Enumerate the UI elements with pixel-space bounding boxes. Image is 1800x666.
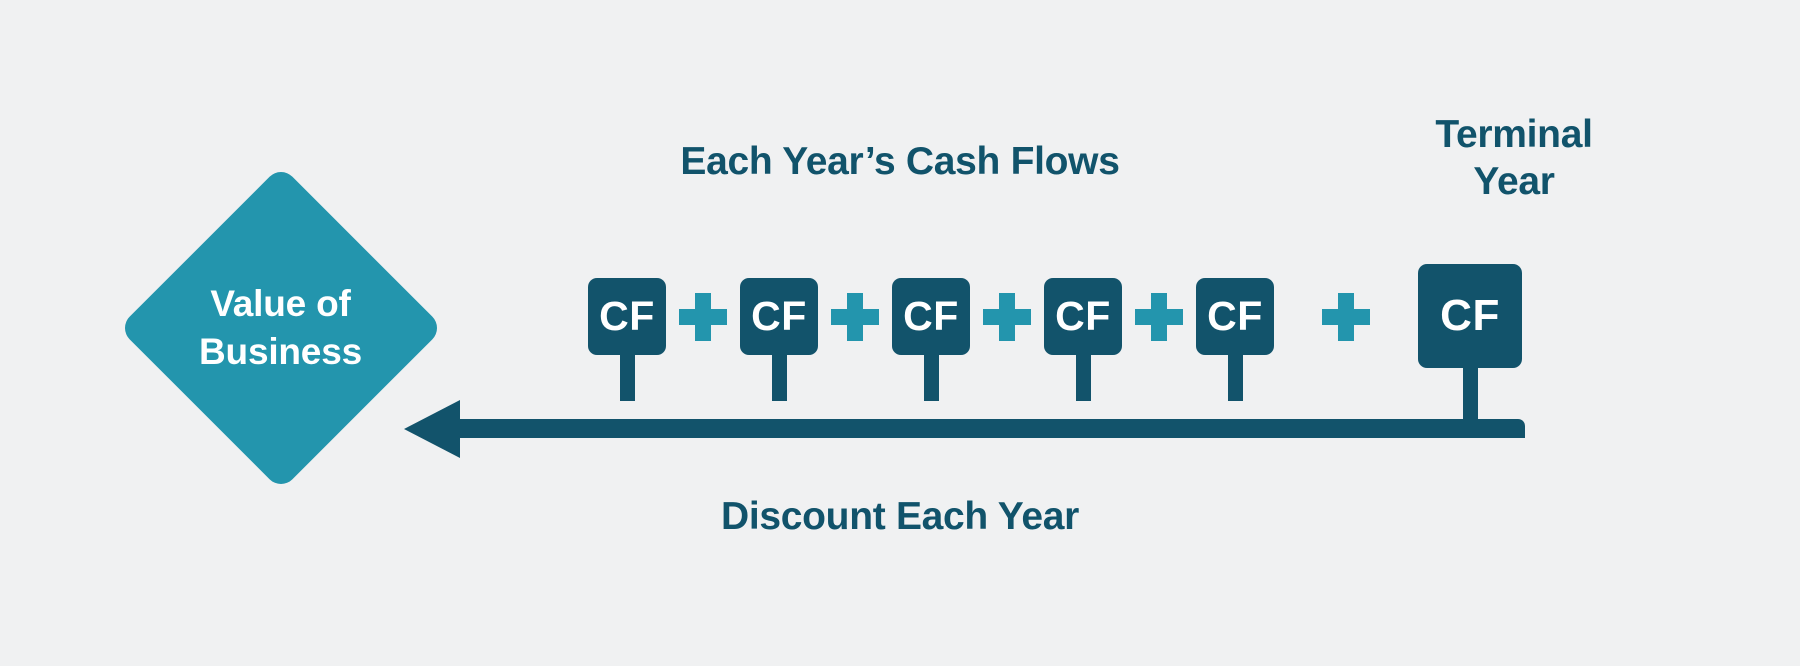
dcf-diagram-canvas: Value of Business CF CF CF CF CF [0, 0, 1800, 666]
value-of-business-diamond: Value of Business [118, 165, 443, 490]
diamond-label: Value of Business [118, 165, 443, 490]
plus-icon-2 [831, 293, 879, 341]
plus-icon-4 [1135, 293, 1183, 341]
caption-discount-each-year: Discount Each Year [640, 495, 1160, 539]
cash-flow-stem-terminal [1463, 368, 1478, 426]
cash-flow-stem-2 [772, 355, 787, 401]
caption-terminal-year-line1: Terminal [1400, 112, 1628, 159]
cash-flow-stem-4 [1076, 355, 1091, 401]
cash-flow-stem-5 [1228, 355, 1243, 401]
cash-flow-row: CF CF CF CF CF CF [588, 264, 1522, 439]
cash-flow-box-label-4: CF [1044, 278, 1122, 355]
plus-icon-3 [983, 293, 1031, 341]
cash-flow-stem-1 [620, 355, 635, 401]
cash-flow-node-5[interactable]: CF [1196, 264, 1274, 401]
cash-flow-node-1[interactable]: CF [588, 264, 666, 401]
diamond-label-line2: Business [199, 328, 362, 375]
caption-terminal-year-line2: Year [1400, 159, 1628, 206]
cash-flow-node-terminal[interactable]: CF [1418, 264, 1522, 426]
cash-flow-box-label-2: CF [740, 278, 818, 355]
caption-each-years-cash-flows: Each Year’s Cash Flows [640, 140, 1160, 184]
cash-flow-box-label-3: CF [892, 278, 970, 355]
caption-terminal-year: Terminal Year [1400, 112, 1628, 206]
cash-flow-node-3[interactable]: CF [892, 264, 970, 401]
diamond-label-line1: Value of [210, 280, 350, 327]
cash-flow-stem-3 [924, 355, 939, 401]
arrow-head-icon [404, 400, 460, 458]
cash-flow-box-label-5: CF [1196, 278, 1274, 355]
cash-flow-box-label-1: CF [588, 278, 666, 355]
cash-flow-node-2[interactable]: CF [740, 264, 818, 401]
cash-flow-box-label-terminal: CF [1418, 264, 1522, 368]
cash-flow-node-4[interactable]: CF [1044, 264, 1122, 401]
plus-icon-1 [679, 293, 727, 341]
plus-icon-5 [1322, 293, 1370, 341]
